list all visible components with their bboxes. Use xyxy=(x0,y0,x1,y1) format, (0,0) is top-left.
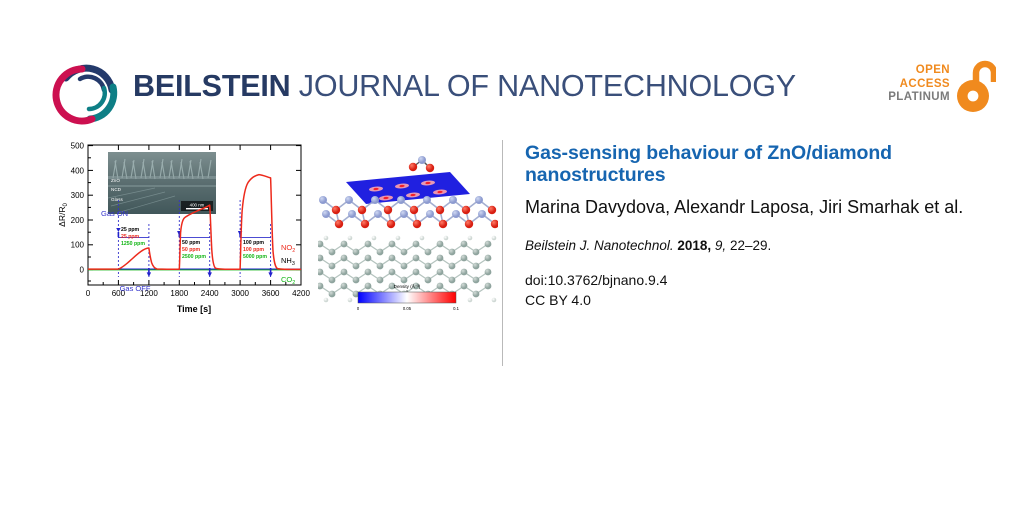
svg-text:300: 300 xyxy=(71,191,85,200)
gas-sensing-chart: 500 400 300 200 100 0 xyxy=(55,140,317,332)
density-colorbar: Density (Å⁻³) 0 0.05 0.1 xyxy=(357,283,460,311)
gas-on-label: Gas ON xyxy=(101,209,128,218)
article-metadata: Gas-sensing behaviour of ZnO/diamond nan… xyxy=(525,142,975,310)
cover-page: BEILSTEIN JOURNAL OF NANOTECHNOLOGY OPEN… xyxy=(0,0,1024,512)
journal-wordmark-rest: JOURNAL OF NANOTECHNOLOGY xyxy=(291,69,796,103)
svg-text:ZnO: ZnO xyxy=(111,178,120,183)
svg-text:1800: 1800 xyxy=(170,289,188,298)
group3-co2: 5000 ppm xyxy=(243,254,267,260)
colorbar-title: Density (Å⁻³) xyxy=(394,283,421,289)
molecule-svg: Density (Å⁻³) 0 0.05 0.1 xyxy=(318,142,498,324)
journal-wordmark: BEILSTEIN JOURNAL OF NANOTECHNOLOGY xyxy=(133,69,796,104)
svg-text:3000: 3000 xyxy=(231,289,249,298)
article-license[interactable]: CC BY 4.0 xyxy=(525,291,975,311)
gas-off-label: Gas OFF xyxy=(120,284,151,293)
content-divider xyxy=(502,140,503,366)
x-axis-label: Time [s] xyxy=(177,304,211,314)
group1-co2: 1250 ppm xyxy=(121,241,145,247)
open-access-label: OPEN ACCESS PLATINUM xyxy=(878,64,950,105)
article-title[interactable]: Gas-sensing behaviour of ZnO/diamond nan… xyxy=(525,142,975,186)
svg-text:0: 0 xyxy=(80,266,85,275)
journal-wordmark-bold: BEILSTEIN xyxy=(133,69,291,103)
zno-layer xyxy=(319,196,498,228)
group1-nh3: 25 ppm xyxy=(121,227,140,233)
svg-text:200: 200 xyxy=(71,216,85,225)
svg-text:500: 500 xyxy=(71,142,85,151)
colorbar-tick-2: 0.1 xyxy=(453,306,459,311)
citation-year: 2018, xyxy=(677,238,711,253)
svg-text:Glass: Glass xyxy=(111,197,123,202)
sem-inset: ZnO NCD Glass 400 nm xyxy=(108,152,216,214)
open-access-line2: ACCESS xyxy=(878,78,950,92)
y-axis-label: ΔR/R0 xyxy=(57,203,69,227)
zno-diamond-model: Density (Å⁻³) 0 0.05 0.1 xyxy=(318,142,498,324)
group1-no2: 25 ppm xyxy=(121,234,140,240)
citation-journal: Beilstein J. Nanotechnol. xyxy=(525,238,674,253)
beilstein-logo xyxy=(52,56,126,130)
chart-legend: NO2 NH3 CO2 xyxy=(281,243,295,286)
svg-text:3600: 3600 xyxy=(262,289,280,298)
svg-text:NCD: NCD xyxy=(111,187,122,192)
svg-text:400: 400 xyxy=(71,166,85,175)
svg-text:4200: 4200 xyxy=(292,289,310,298)
svg-text:100: 100 xyxy=(71,241,85,250)
open-access-line1: OPEN xyxy=(878,64,950,78)
article-doi[interactable]: doi:10.3762/bjnano.9.4 xyxy=(525,271,975,291)
colorbar-tick-1: 0.05 xyxy=(403,306,412,311)
sem-scalebar-label: 400 nm xyxy=(190,203,205,208)
no2-molecule xyxy=(409,156,434,172)
open-access-line3: PLATINUM xyxy=(878,91,950,105)
concentration-group-3: 100 ppm 100 ppm 5000 ppm xyxy=(243,240,267,260)
citation-volume: 9, xyxy=(715,238,726,253)
chart-svg: 500 400 300 200 100 0 xyxy=(55,140,317,332)
open-padlock-icon xyxy=(956,58,996,114)
group3-nh3: 100 ppm xyxy=(243,240,264,246)
open-access-badge: OPEN ACCESS PLATINUM xyxy=(878,58,996,126)
journal-header: BEILSTEIN JOURNAL OF NANOTECHNOLOGY OPEN… xyxy=(0,0,1024,140)
y-axis-ticks: 500 400 300 200 100 0 xyxy=(71,142,85,275)
article-citation: Beilstein J. Nanotechnol. 2018, 9, 22–29… xyxy=(525,237,975,255)
colorbar-tick-0: 0 xyxy=(357,306,360,311)
svg-text:0: 0 xyxy=(86,289,91,298)
group2-no2: 50 ppm xyxy=(182,247,201,253)
citation-pages: 22–29. xyxy=(730,238,771,253)
svg-text:2400: 2400 xyxy=(201,289,219,298)
group2-nh3: 50 ppm xyxy=(182,240,201,246)
group3-no2: 100 ppm xyxy=(243,247,264,253)
article-authors: Marina Davydova, Alexandr Laposa, Jiri S… xyxy=(525,195,975,219)
group2-co2: 2500 ppm xyxy=(182,254,206,260)
